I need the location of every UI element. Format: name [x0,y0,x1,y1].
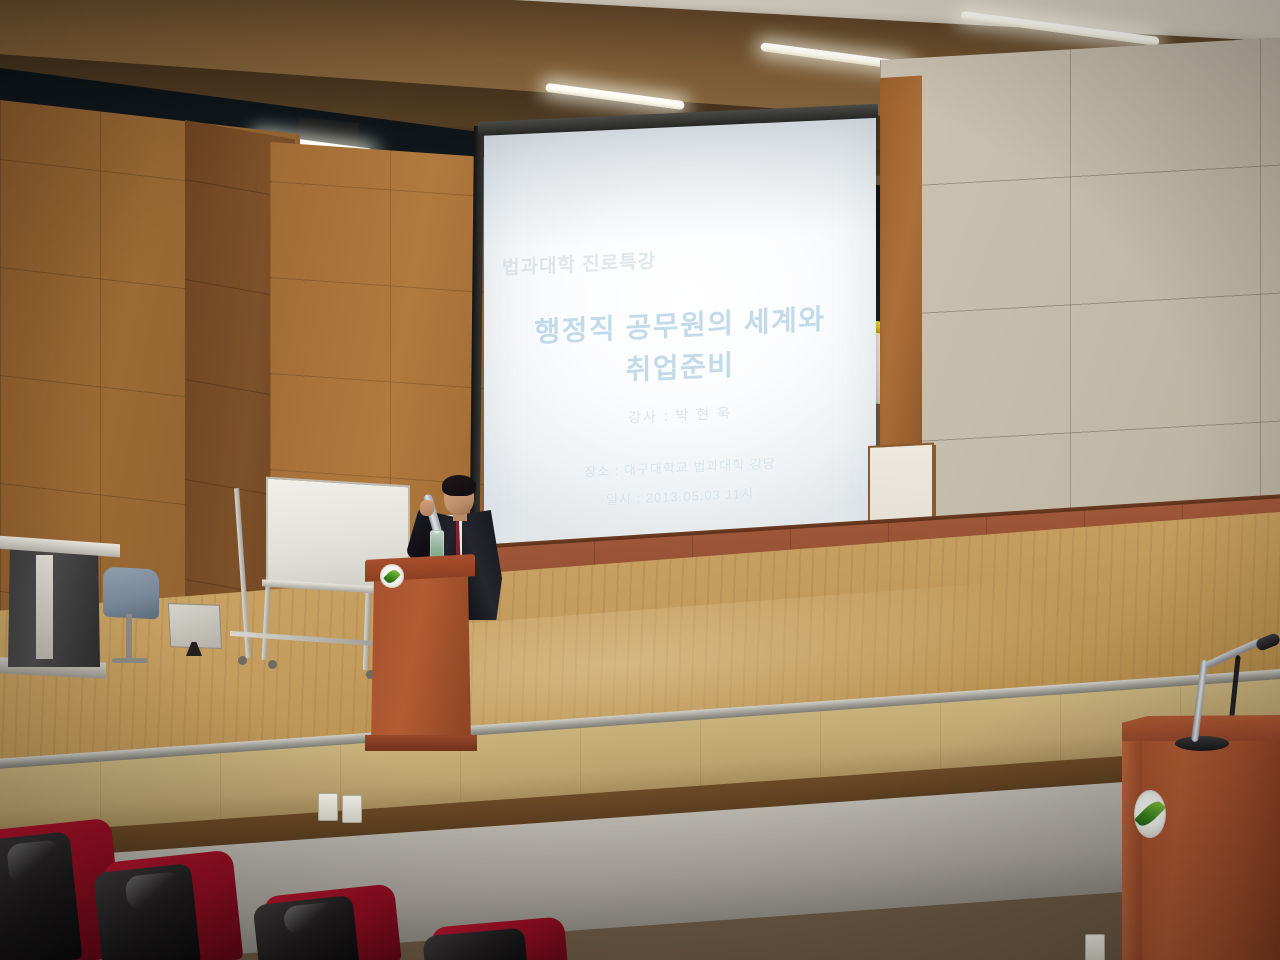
chair-foot [112,658,148,663]
university-leaf-emblem-icon [1134,790,1166,838]
speaker-hair [442,475,476,496]
easel-wheel [238,656,247,665]
speaker-left-hand [420,500,434,516]
control-lectern-stripe [36,555,53,659]
foreground-podium-edge [1122,736,1142,960]
university-leaf-emblem-icon [380,564,404,588]
chair-post [126,614,132,662]
leaf-shape-icon [1134,798,1166,830]
main-podium-body[interactable] [371,575,471,745]
stage-chair[interactable] [103,567,159,620]
slide-datetime-text: 일시 : 2013.05.03 11시 [494,478,866,514]
power-outlet-icon [342,795,362,823]
lecture-hall-photo: 법과대학 진로특강 행정직 공무원의 세계와 취업준비 강사 : 박 현 욱 장… [0,0,1280,960]
microphone-base [1175,736,1229,751]
leaf-shape-icon [383,567,401,585]
slide-header-text: 법과대학 진로특강 [502,243,732,280]
power-outlet-icon [1085,934,1105,960]
easel-wheel [268,660,277,669]
main-podium-base [365,735,477,751]
control-lectern-body[interactable] [8,549,100,667]
slide-lecturer-text: 강사 : 박 현 욱 [494,397,866,434]
power-outlet-icon [318,793,338,821]
foreground-podium-body[interactable] [1122,736,1280,960]
